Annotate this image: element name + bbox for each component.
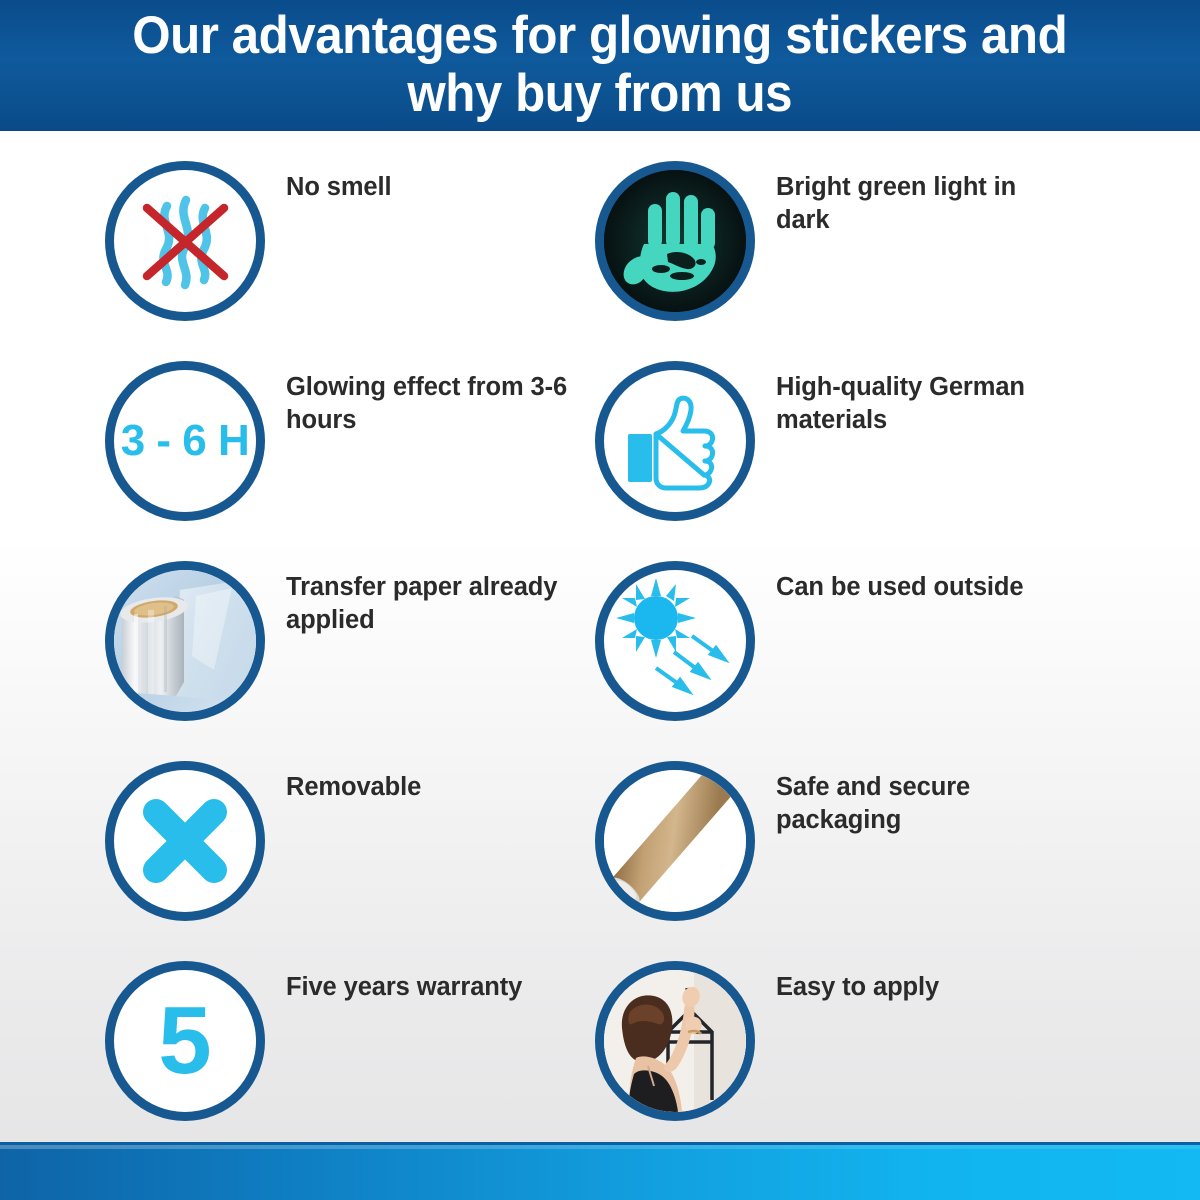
thumbs-up-icon	[604, 370, 746, 512]
features-grid: No smell	[0, 131, 1200, 1131]
feature-label: Transfer paper already applied	[265, 551, 575, 637]
icon-ring	[595, 561, 755, 721]
feature-removable[interactable]: Removable	[105, 751, 575, 951]
woman-applying-decal-icon	[604, 970, 746, 1112]
feature-glowing-effect[interactable]: 3 - 6 H Glowing effect from 3-6 hours	[105, 351, 575, 551]
infographic-page: Our advantages for glowing stickers and …	[0, 0, 1200, 1200]
feature-label: Five years warranty	[265, 951, 575, 1004]
feature-label: Removable	[265, 751, 575, 804]
footer-bar	[0, 1142, 1200, 1200]
duration-badge-icon-wrap: 3 - 6 H	[105, 361, 265, 521]
feature-label: Bright green light in dark	[755, 151, 1065, 237]
sun-rays-icon-wrap	[595, 561, 755, 721]
feature-german-materials[interactable]: High-quality German materials	[595, 351, 1065, 551]
no-smell-icon	[114, 170, 256, 312]
feature-used-outside[interactable]: Can be used outside	[595, 551, 1065, 751]
duration-badge-icon: 3 - 6 H	[90, 416, 280, 466]
transfer-film-roll-icon	[114, 570, 256, 712]
page-title: Our advantages for glowing stickers and …	[132, 7, 1067, 123]
feature-label: Easy to apply	[755, 951, 1065, 1004]
cross-x-icon	[114, 770, 256, 912]
icon-ring	[595, 161, 755, 321]
feature-label: Glowing effect from 3-6 hours	[265, 351, 575, 437]
mailing-tube-icon-wrap	[595, 761, 755, 921]
feature-label: Can be used outside	[755, 551, 1065, 604]
mailing-tube-icon	[604, 770, 746, 912]
woman-applying-decal-icon-wrap	[595, 961, 755, 1121]
no-smell-icon-wrap	[105, 161, 265, 321]
feature-label: Safe and secure packaging	[755, 751, 1065, 837]
feature-label: No smell	[265, 151, 575, 204]
feature-easy-to-apply[interactable]: Easy to apply	[595, 951, 1065, 1151]
feature-bright-green-light[interactable]: Bright green light in dark	[595, 151, 1065, 351]
feature-transfer-paper[interactable]: Transfer paper already applied	[105, 551, 575, 751]
feature-safe-packaging[interactable]: Safe and secure packaging	[595, 751, 1065, 951]
cross-x-icon-wrap	[105, 761, 265, 921]
thumbs-up-icon-wrap	[595, 361, 755, 521]
warranty-number-icon: 5	[158, 993, 211, 1089]
feature-label: High-quality German materials	[755, 351, 1065, 437]
icon-ring	[595, 961, 755, 1121]
icon-ring	[595, 361, 755, 521]
feature-five-years-warranty[interactable]: 5 Five years warranty	[105, 951, 575, 1151]
sun-rays-icon	[604, 570, 746, 712]
icon-ring	[105, 561, 265, 721]
header-banner: Our advantages for glowing stickers and …	[0, 0, 1200, 131]
glowing-handprint-icon-wrap	[595, 161, 755, 321]
icon-ring	[595, 761, 755, 921]
feature-no-smell[interactable]: No smell	[105, 151, 575, 351]
icon-ring	[105, 761, 265, 921]
warranty-number-icon-wrap: 5	[105, 961, 265, 1121]
glowing-handprint-icon	[604, 170, 746, 312]
transfer-film-roll-icon-wrap	[105, 561, 265, 721]
